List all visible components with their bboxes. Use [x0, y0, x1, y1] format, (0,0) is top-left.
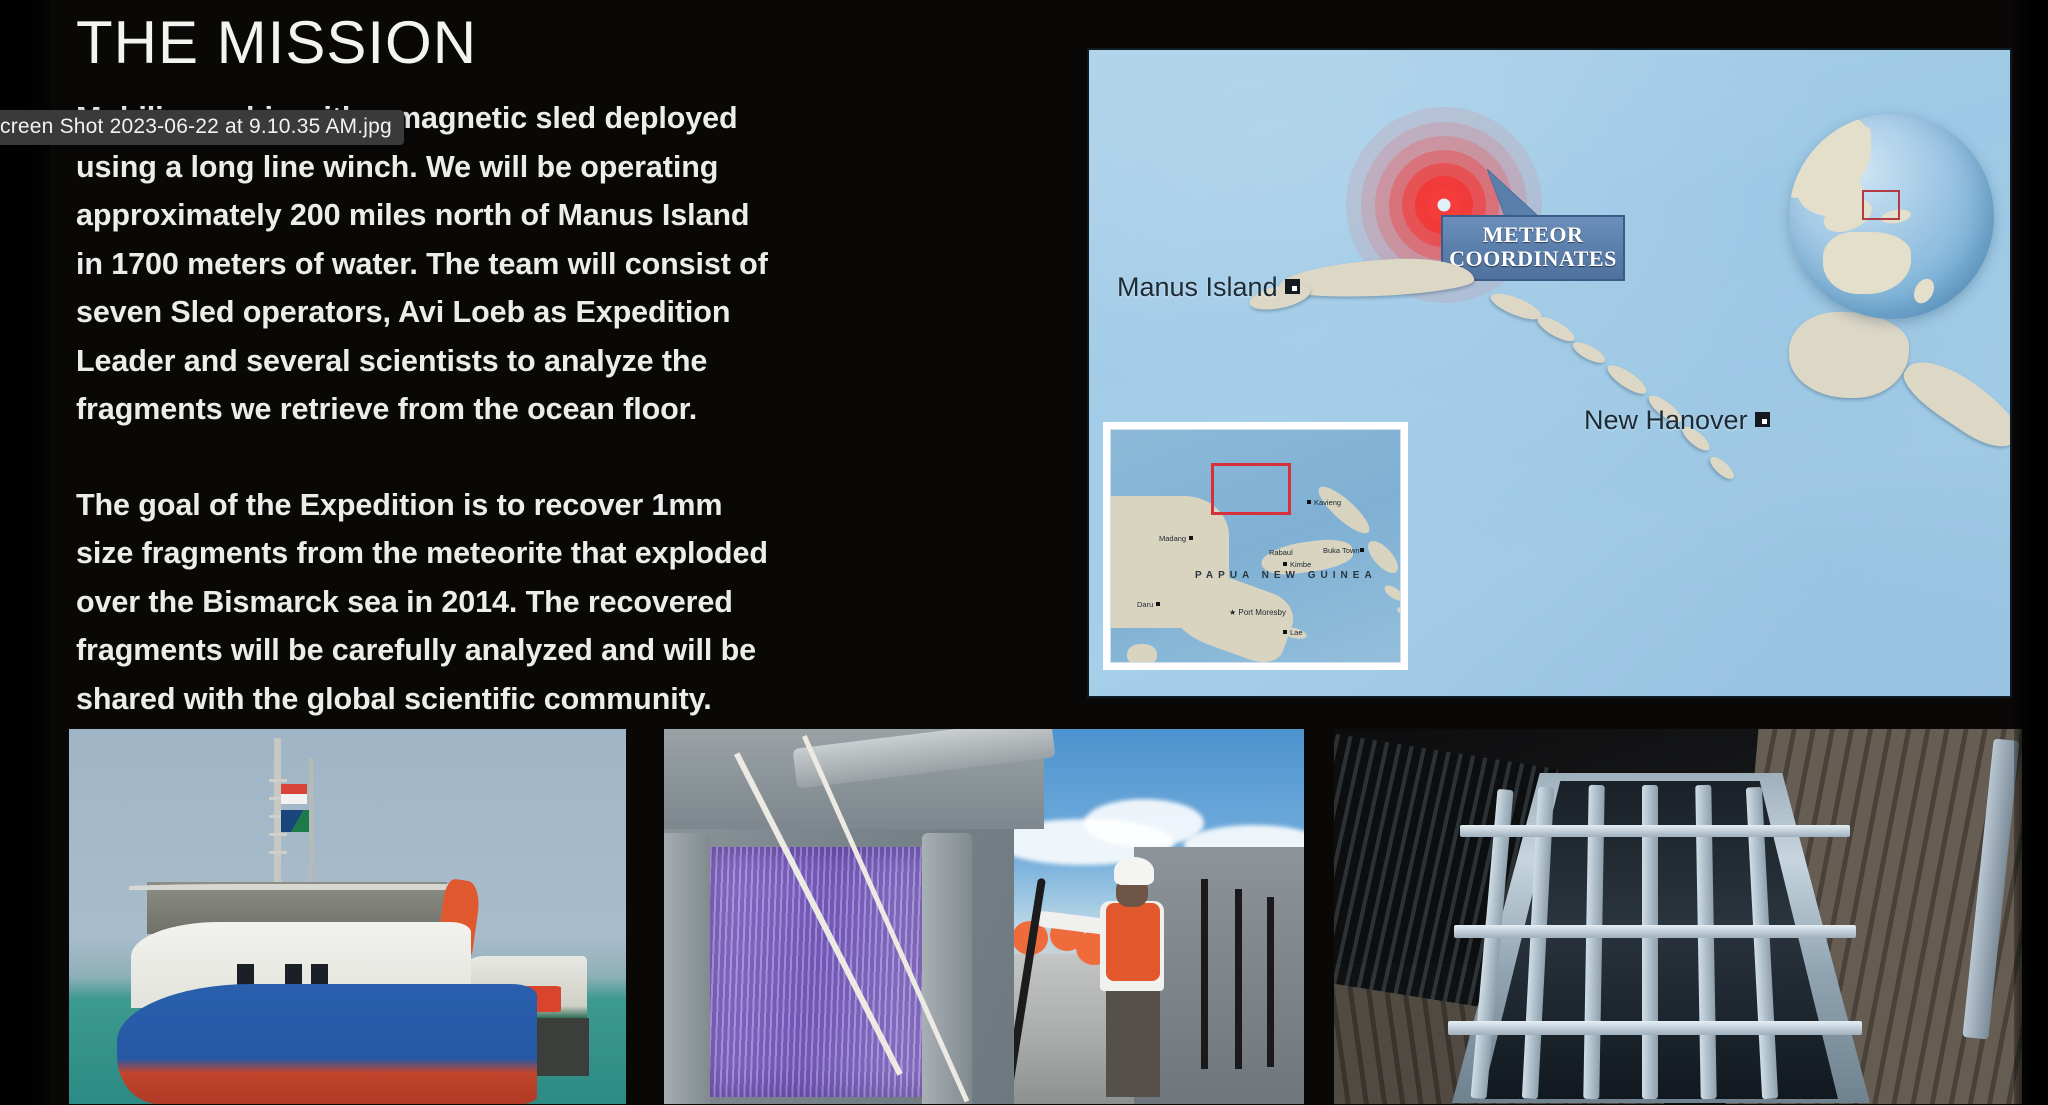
vessel-railing [129, 884, 459, 890]
inset-city-daru: Daru [1137, 600, 1160, 609]
inset-city-port-moresby: ★ Port Moresby [1229, 608, 1286, 617]
paragraph-mission-goal: The goal of the Expedition is to recover… [76, 481, 776, 724]
photo-long-line-winch [663, 728, 1305, 1105]
inset-city-madang: Madang [1159, 534, 1193, 543]
sled-cross-bar [1460, 825, 1850, 837]
worker-life-vest [1106, 903, 1160, 981]
map-label-hanover-text: New Hanover [1584, 405, 1748, 435]
inset-locator-map: PAPUA NEW GUINEA Kavieng Madang Rabaul K… [1103, 422, 1408, 670]
sled-cross-bar [1454, 925, 1856, 938]
screen-edge-left [0, 0, 50, 1105]
worker-legs [1106, 985, 1160, 1097]
presentation-slide: THE MISSION Mobilize a ship with a magne… [0, 0, 2048, 1105]
globe-inset [1789, 114, 1994, 319]
vessel-hull [117, 984, 537, 1104]
sled-cross-bar [1448, 1021, 1862, 1035]
locator-highlight-box [1211, 463, 1291, 515]
file-name-tooltip: creen Shot 2023-06-22 at 9.10.35 AM.jpg [0, 110, 404, 145]
landmass-small-island [1397, 606, 1401, 614]
landmass-new-ireland [1313, 480, 1375, 539]
inset-city-buka-town: Buka Town [1323, 546, 1367, 555]
inset-city-kimbe: Kimbe [1283, 560, 1311, 569]
worker-hard-hat [1114, 857, 1154, 885]
map-label-manus-text: Manus Island [1117, 272, 1278, 302]
inset-country-label: PAPUA NEW GUINEA [1195, 570, 1377, 581]
hydraulic-hose [1201, 879, 1208, 1069]
hydraulic-hose [1267, 897, 1274, 1067]
globe-highlight-box [1862, 190, 1900, 220]
vessel-flag-upper [281, 784, 307, 804]
expedition-map: METEOR COORDINATES Manus Island New Hano… [1087, 48, 2012, 698]
vessel-flag-lower [281, 810, 309, 832]
map-marker-icon [1755, 412, 1770, 427]
landmass-small-island [1382, 583, 1401, 604]
map-label-manus-island: Manus Island [1117, 272, 1300, 303]
screen-edge-right [2014, 0, 2048, 1105]
photo-strip [68, 728, 2028, 1105]
globe-landmass-australia [1823, 232, 1911, 294]
island-new-hanover [1789, 312, 1909, 398]
map-marker-icon [1285, 279, 1300, 294]
vessel-antenna [309, 758, 313, 886]
inset-city-rabaul: Rabaul [1269, 548, 1293, 557]
screen: · · · · · · THE MISSION Mobilize a ship … [0, 0, 2048, 1105]
photo-magnetic-sled [1333, 728, 2023, 1105]
photo-research-vessel [68, 728, 627, 1105]
inset-map-canvas: PAPUA NEW GUINEA Kavieng Madang Rabaul K… [1110, 429, 1401, 663]
hydraulic-hose [1235, 889, 1242, 1069]
callout-line-2: COORDINATES [1447, 247, 1619, 271]
globe-landmass-new-zealand [1910, 275, 1938, 306]
map-label-new-hanover: New Hanover [1584, 405, 1770, 436]
vessel-mast [274, 738, 281, 886]
page-title: THE MISSION [76, 8, 477, 77]
inset-city-kavieng: Kavieng [1307, 498, 1341, 507]
winch-spool [704, 847, 934, 1097]
spool-flange [663, 833, 710, 1105]
callout-line-1: METEOR [1447, 223, 1619, 247]
slide-body-text: Mobilize a ship with a magnetic sled dep… [76, 94, 776, 723]
landmass-small-island [1127, 644, 1157, 663]
inset-city-lae: Lae [1283, 628, 1303, 637]
